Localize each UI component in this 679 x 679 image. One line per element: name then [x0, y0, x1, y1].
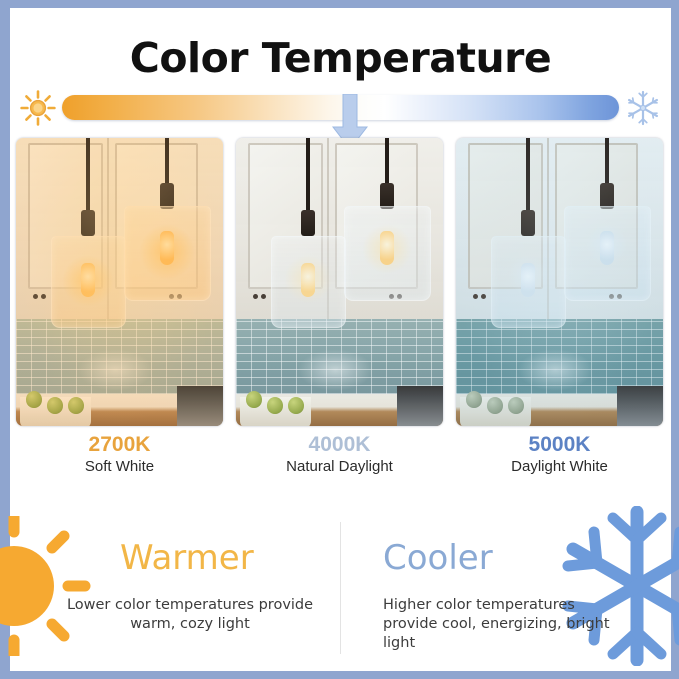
- caption-2700k: 2700K Soft White: [16, 432, 223, 477]
- pendant-lamp-right: [564, 138, 651, 317]
- cooler-description: Higher color temperatures provide cool, …: [383, 596, 633, 653]
- sample-panel-group: [10, 138, 671, 428]
- sun-icon: [0, 516, 92, 656]
- appliance: [617, 386, 663, 426]
- pendant-lamp-left: [51, 138, 126, 334]
- kelvin-name: Soft White: [16, 457, 223, 477]
- pendant-light-photo: [456, 138, 663, 426]
- explainer-warmer: Warmer Lower color temperatures provide …: [10, 504, 340, 671]
- caption-4000k: 4000K Natural Daylight: [236, 432, 443, 477]
- caption-5000k: 5000K Daylight White: [456, 432, 663, 477]
- warmer-heading: Warmer: [120, 538, 254, 578]
- sample-panel-4000k[interactable]: [236, 138, 443, 426]
- pendant-light-photo: [16, 138, 223, 426]
- warmer-description: Lower color temperatures provide warm, c…: [50, 596, 330, 634]
- sample-panel-5000k[interactable]: [456, 138, 663, 426]
- kelvin-value: 5000K: [456, 432, 663, 457]
- kelvin-name: Natural Daylight: [236, 457, 443, 477]
- pendant-lamp-right: [344, 138, 431, 317]
- pendant-lamp-left: [271, 138, 346, 334]
- sun-icon: [18, 88, 58, 128]
- snowflake-icon: [623, 88, 663, 128]
- explainer-section: Warmer Lower color temperatures provide …: [10, 504, 671, 671]
- explainer-cooler: Cooler Higher color temperatures provide…: [341, 504, 671, 671]
- appliance: [397, 386, 443, 426]
- kelvin-value: 4000K: [236, 432, 443, 457]
- page-title: Color Temperature: [10, 34, 671, 82]
- pendant-lamp-right: [124, 138, 211, 317]
- kelvin-name: Daylight White: [456, 457, 663, 477]
- kelvin-caption-group: 2700K Soft White 4000K Natural Daylight …: [10, 432, 671, 488]
- temperature-scale: [10, 86, 671, 130]
- infographic-canvas: Color Temperature: [10, 8, 671, 671]
- appliance: [177, 386, 223, 426]
- cooler-heading: Cooler: [383, 538, 493, 578]
- color-temperature-infographic: Color Temperature: [0, 0, 679, 679]
- sample-panel-2700k[interactable]: [16, 138, 223, 426]
- kelvin-value: 2700K: [16, 432, 223, 457]
- pendant-lamp-left: [491, 138, 566, 334]
- pendant-light-photo: [236, 138, 443, 426]
